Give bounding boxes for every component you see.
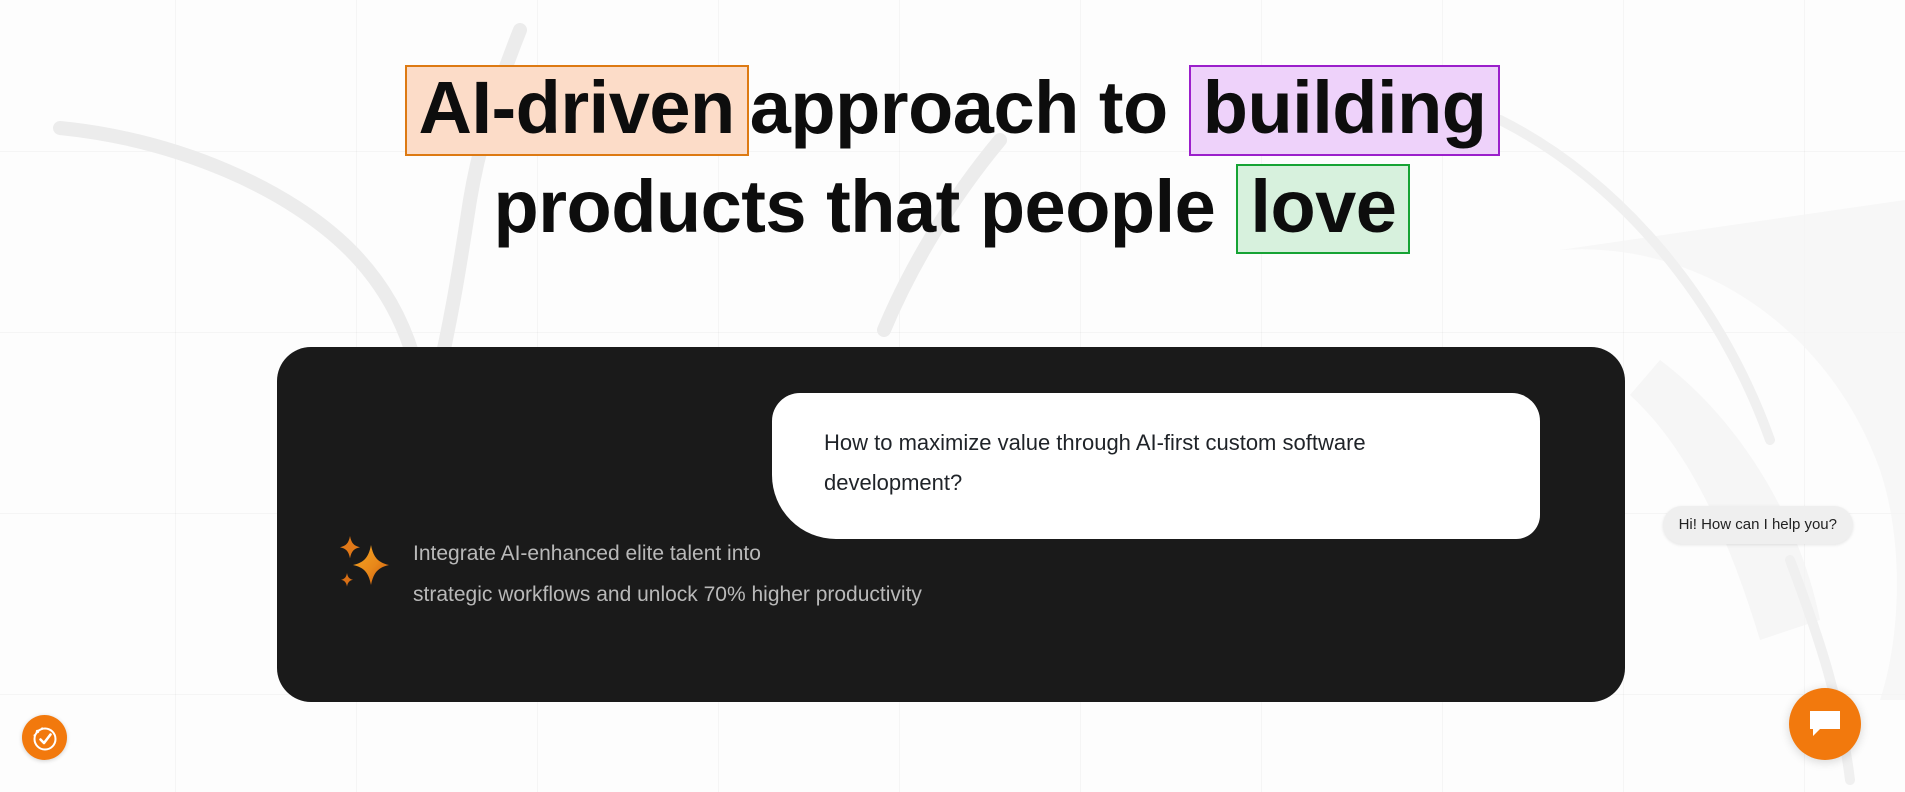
chat-launcher-button[interactable] xyxy=(1789,688,1861,760)
headline-line-1: AI-drivenapproach to building xyxy=(0,58,1905,158)
headline-highlight-ai-driven: AI-driven xyxy=(405,65,749,156)
headline-text-approach-to: approach to xyxy=(750,66,1168,149)
user-message-text: How to maximize value through AI-first c… xyxy=(824,423,1464,503)
chat-bubble-icon xyxy=(1808,709,1842,739)
headline-line-2: products that people love xyxy=(0,157,1905,257)
assistant-answer-line-2: strategic workflows and unlock 70% highe… xyxy=(413,574,922,615)
performance-badge-button[interactable] xyxy=(22,715,67,760)
headline-highlight-love: love xyxy=(1236,164,1410,254)
performance-check-icon xyxy=(30,723,60,753)
headline-highlight-building: building xyxy=(1189,65,1501,156)
page-title: AI-drivenapproach to building products t… xyxy=(0,58,1905,257)
user-message-bubble: How to maximize value through AI-first c… xyxy=(772,393,1540,539)
assistant-answer-row: Integrate AI-enhanced elite talent into … xyxy=(337,533,922,615)
sparkle-icon xyxy=(337,535,391,591)
conversation-card: How to maximize value through AI-first c… xyxy=(277,347,1625,702)
chat-greeting-tooltip[interactable]: Hi! How can I help you? xyxy=(1663,506,1853,544)
headline-text-products-that-people: products that people xyxy=(494,165,1216,248)
assistant-answer-text: Integrate AI-enhanced elite talent into … xyxy=(413,533,922,615)
page-root: AI-drivenapproach to building products t… xyxy=(0,0,1905,792)
assistant-answer-line-1: Integrate AI-enhanced elite talent into xyxy=(413,533,922,574)
